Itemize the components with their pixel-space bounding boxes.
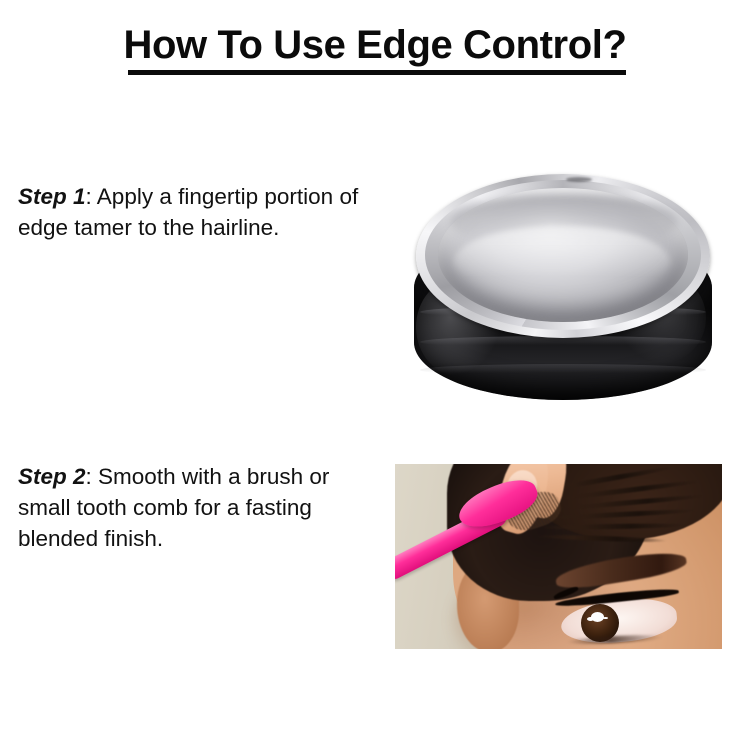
page-title: How To Use Edge Control?: [124, 22, 627, 68]
step-1-separator: :: [86, 184, 97, 209]
tin-illustration: [398, 168, 728, 430]
step-2-separator: :: [86, 464, 99, 489]
tin-interior-sheen: [454, 226, 670, 298]
step-1-label: Step 1: [18, 184, 86, 209]
instruction-graphic: How To Use Edge Control? Step 1: Apply a…: [0, 0, 750, 750]
title-underline: [128, 70, 626, 75]
tin-rim-specular: [566, 177, 592, 182]
edge-brush-hairline-photo: [395, 464, 722, 649]
edge-control-tin-photo: [398, 168, 728, 430]
title-block: How To Use Edge Control?: [0, 22, 750, 68]
step-2-text: Step 2: Smooth with a brush or small too…: [18, 461, 378, 554]
eye-catchlight: [591, 612, 604, 622]
step-2-label: Step 2: [18, 464, 86, 489]
hairline-photo-illustration: [395, 464, 722, 649]
step-1-text: Step 1: Apply a fingertip portion of edg…: [18, 181, 398, 243]
